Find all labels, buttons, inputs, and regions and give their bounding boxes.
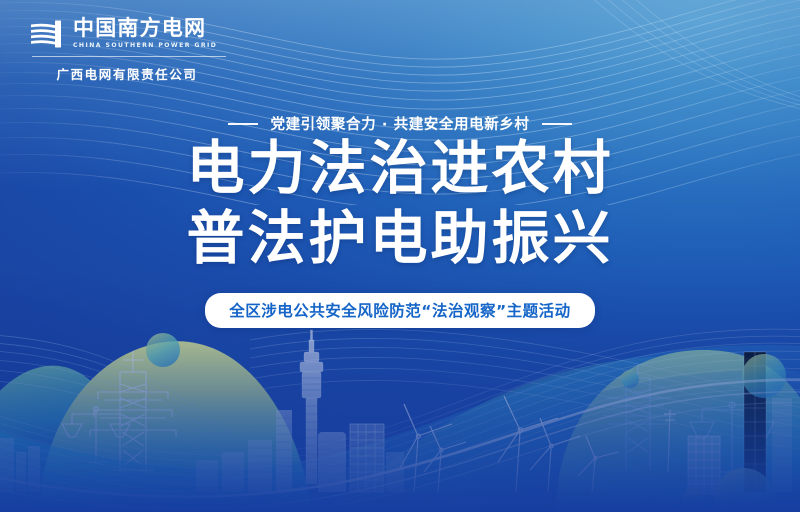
logo-text-group: 中国南方电网 CHINA SOUTHERN POWER GRID [73,18,217,49]
eyebrow-rule-left [228,123,258,125]
csg-grid-mark-icon [30,19,66,49]
headline-line-2: 普法护电助振兴 [0,206,800,272]
logo-primary-row: 中国南方电网 CHINA SOUTHERN POWER GRID [30,18,240,49]
poster-canvas: 中国南方电网 CHINA SOUTHERN POWER GRID 广西电网有限责… [0,0,800,512]
campaign-pill[interactable]: 全区涉电公共安全风险防范“法治观察”主题活动 [205,293,594,328]
eyebrow-slogan: 党建引领聚合力 · 共建安全用电新乡村 [0,113,800,134]
eyebrow-rule-right [542,123,572,125]
eyebrow-text: 党建引领聚合力 · 共建安全用电新乡村 [270,113,529,134]
headline-line-1: 电力法治进农村 [0,136,800,202]
brand-logo[interactable]: 中国南方电网 CHINA SOUTHERN POWER GRID 广西电网有限责… [30,18,240,83]
campaign-pill-wrap: 全区涉电公共安全风险防范“法治观察”主题活动 [0,293,800,328]
logo-company-cn: 中国南方电网 [73,18,217,39]
logo-divider [32,56,226,57]
headline-block: 电力法治进农村 普法护电助振兴 [0,136,800,271]
logo-company-en: CHINA SOUTHERN POWER GRID [73,43,217,49]
logo-subsidiary: 广西电网有限责任公司 [30,64,224,83]
